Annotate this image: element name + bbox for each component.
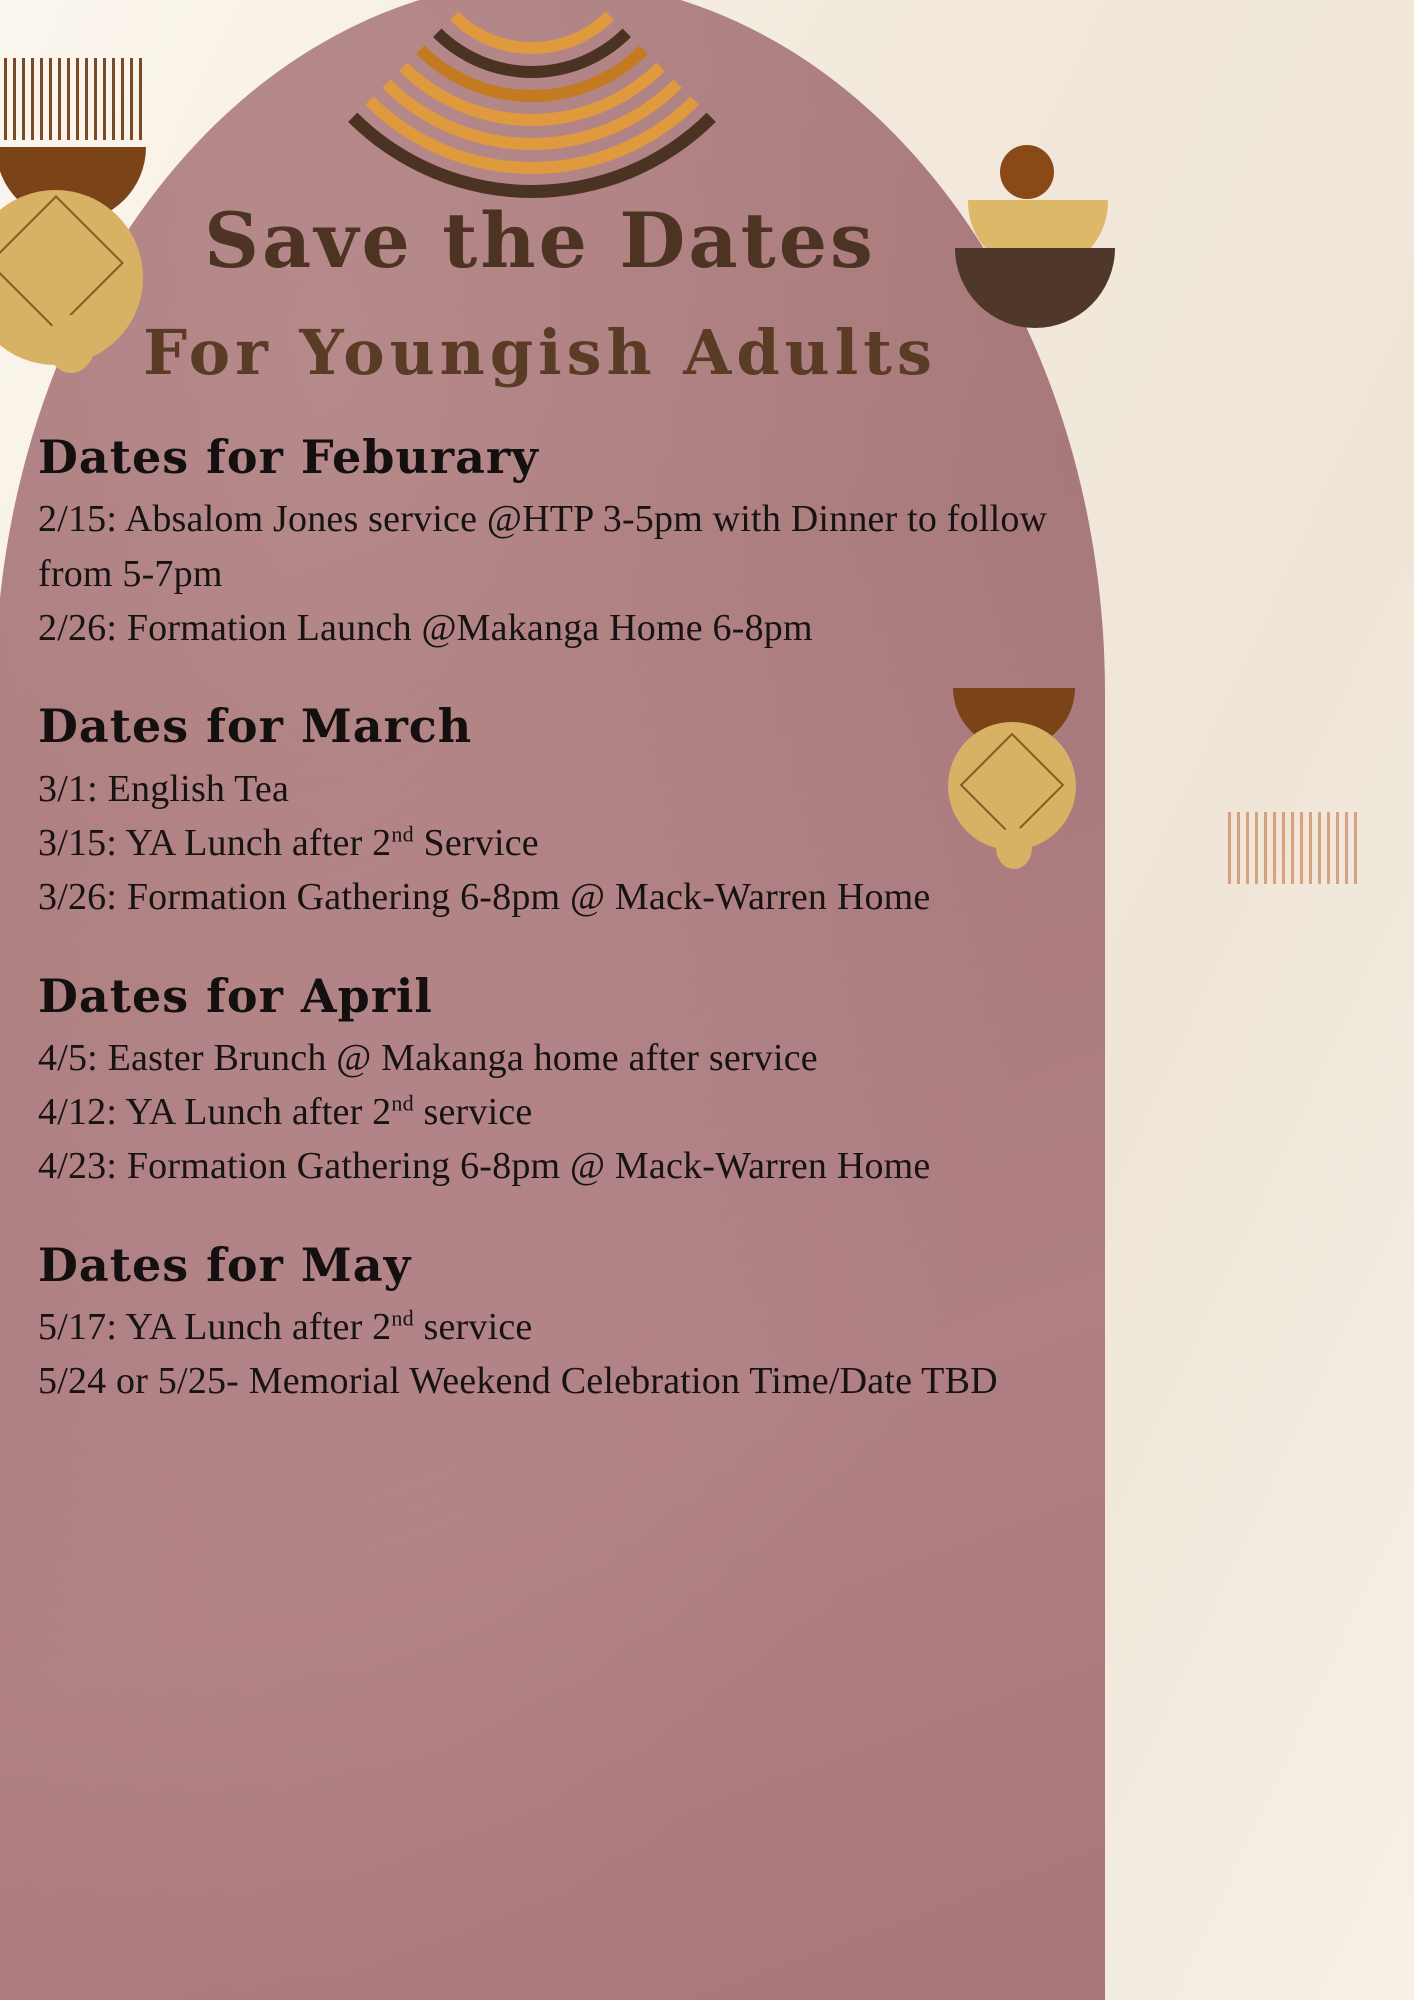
event-item: 2/15: Absalom Jones service @HTP 3-5pm w… [38, 492, 1078, 601]
circle-brown-top-right [1000, 145, 1054, 199]
event-item: 5/24 or 5/25- Memorial Weekend Celebrati… [38, 1354, 1078, 1408]
month-heading-april: Dates for April [38, 969, 1078, 1023]
poster-canvas: Save the Dates For Youngish Adults Dates… [0, 0, 1414, 2000]
event-item: 3/26: Formation Gathering 6-8pm @ Mack-W… [38, 870, 1078, 924]
event-item: 4/12: YA Lunch after 2nd service [38, 1085, 1078, 1139]
ordinal-suffix: nd [391, 1090, 413, 1115]
ordinal-suffix: nd [391, 821, 413, 846]
month-section-february: Dates for Feburary 2/15: Absalom Jones s… [38, 430, 1078, 655]
section-spacer [38, 931, 1078, 969]
event-item: 3/1: English Tea [38, 762, 1078, 816]
month-heading-february: Dates for Feburary [38, 430, 1078, 484]
stripe-block-top-left [4, 58, 144, 140]
ordinal-suffix: nd [391, 1305, 413, 1330]
page-title: Save the Dates [0, 196, 1080, 285]
section-spacer [38, 1200, 1078, 1238]
event-text-pre: 5/17: YA Lunch after 2 [38, 1306, 391, 1348]
month-section-may: Dates for May 5/17: YA Lunch after 2nd s… [38, 1238, 1078, 1409]
event-text-pre: 3/15: YA Lunch after 2 [38, 822, 391, 864]
month-heading-march: Dates for March [38, 699, 1078, 753]
event-item: 5/17: YA Lunch after 2nd service [38, 1300, 1078, 1354]
event-text-post: Service [414, 822, 539, 864]
concentric-arcs-decoration [272, 0, 792, 198]
event-item: 4/5: Easter Brunch @ Makanga home after … [38, 1031, 1078, 1085]
month-heading-may: Dates for May [38, 1238, 1078, 1292]
event-item: 3/15: YA Lunch after 2nd Service [38, 816, 1078, 870]
event-text-pre: 4/12: YA Lunch after 2 [38, 1091, 391, 1133]
month-section-march: Dates for March 3/1: English Tea 3/15: Y… [38, 699, 1078, 924]
event-text-post: service [414, 1306, 533, 1348]
event-text-post: service [414, 1091, 533, 1133]
section-spacer [38, 661, 1078, 699]
event-item: 2/26: Formation Launch @Makanga Home 6-8… [38, 601, 1078, 655]
stripe-block-mid-right [1228, 812, 1358, 884]
page-subtitle: For Youngish Adults [0, 316, 1080, 389]
month-section-april: Dates for April 4/5: Easter Brunch @ Mak… [38, 969, 1078, 1194]
event-item: 4/23: Formation Gathering 6-8pm @ Mack-W… [38, 1139, 1078, 1193]
schedule-list: Dates for Feburary 2/15: Absalom Jones s… [38, 430, 1078, 1415]
